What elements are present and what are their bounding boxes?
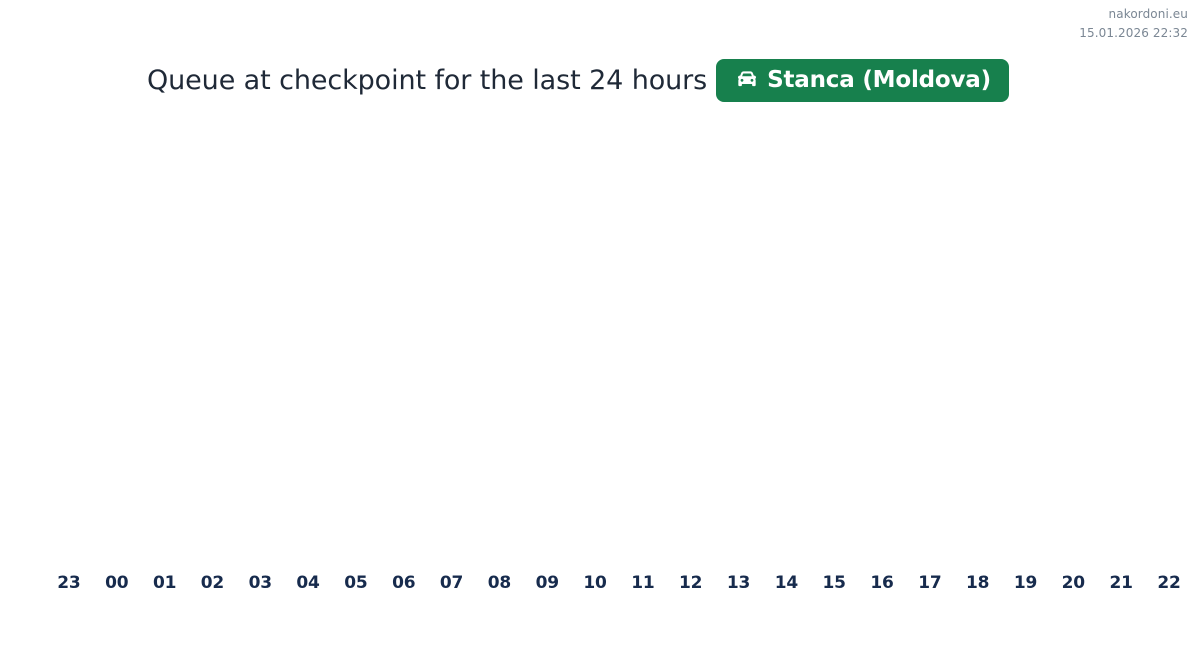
- x-axis-tick: 00: [93, 571, 141, 595]
- bar-slot: [523, 112, 571, 567]
- bar-slot: [762, 112, 810, 567]
- bar-slot: [141, 112, 189, 567]
- bar-slot: [475, 112, 523, 567]
- bar-slot: [1145, 112, 1193, 567]
- bar-slot: [1049, 112, 1097, 567]
- bar-slot: [571, 112, 619, 567]
- bar-slot: [380, 112, 428, 567]
- chart-plot-area: [45, 112, 1193, 567]
- x-axis-tick: 07: [428, 571, 476, 595]
- bar-slot: [906, 112, 954, 567]
- x-axis-tick: 02: [188, 571, 236, 595]
- bar-slot: [858, 112, 906, 567]
- car-icon: [734, 67, 760, 93]
- bar-slot: [1002, 112, 1050, 567]
- x-axis-tick: 16: [858, 571, 906, 595]
- x-axis-tick: 14: [762, 571, 810, 595]
- bar-slot: [715, 112, 763, 567]
- x-axis-tick: 18: [954, 571, 1002, 595]
- chart-header: Queue at checkpoint for the last 24 hour…: [147, 58, 1009, 102]
- x-axis: 2300010203040506070809101112131415161718…: [45, 571, 1193, 595]
- site-name: nakordoni.eu: [1079, 5, 1188, 24]
- x-axis-tick: 17: [906, 571, 954, 595]
- bar-slot: [428, 112, 476, 567]
- bar-series: [45, 112, 1193, 567]
- x-axis-tick: 05: [332, 571, 380, 595]
- x-axis-tick: 01: [141, 571, 189, 595]
- bar-slot: [45, 112, 93, 567]
- x-axis-tick: 13: [715, 571, 763, 595]
- x-axis-tick: 11: [619, 571, 667, 595]
- x-axis-tick: 03: [236, 571, 284, 595]
- timestamp: 15.01.2026 22:32: [1079, 24, 1188, 43]
- bar-slot: [93, 112, 141, 567]
- bar-slot: [188, 112, 236, 567]
- station-badge[interactable]: Stanca (Moldova): [716, 59, 1009, 102]
- page-title: Queue at checkpoint for the last 24 hour…: [147, 67, 707, 94]
- x-axis-tick: 10: [571, 571, 619, 595]
- x-axis-tick: 12: [667, 571, 715, 595]
- bar-slot: [810, 112, 858, 567]
- x-axis-tick: 08: [475, 571, 523, 595]
- station-name: Stanca (Moldova): [767, 69, 991, 92]
- x-axis-tick: 04: [284, 571, 332, 595]
- x-axis-tick: 06: [380, 571, 428, 595]
- bar-slot: [667, 112, 715, 567]
- x-axis-tick: 09: [523, 571, 571, 595]
- page-meta: nakordoni.eu 15.01.2026 22:32: [1079, 5, 1188, 42]
- bar-slot: [284, 112, 332, 567]
- bar-slot: [236, 112, 284, 567]
- x-axis-tick: 19: [1002, 571, 1050, 595]
- bar-slot: [619, 112, 667, 567]
- x-axis-tick: 15: [810, 571, 858, 595]
- x-axis-tick: 22: [1145, 571, 1193, 595]
- bar-slot: [332, 112, 380, 567]
- bar-slot: [954, 112, 1002, 567]
- x-axis-tick: 21: [1097, 571, 1145, 595]
- bar-slot: [1097, 112, 1145, 567]
- x-axis-tick: 20: [1049, 571, 1097, 595]
- x-axis-tick: 23: [45, 571, 93, 595]
